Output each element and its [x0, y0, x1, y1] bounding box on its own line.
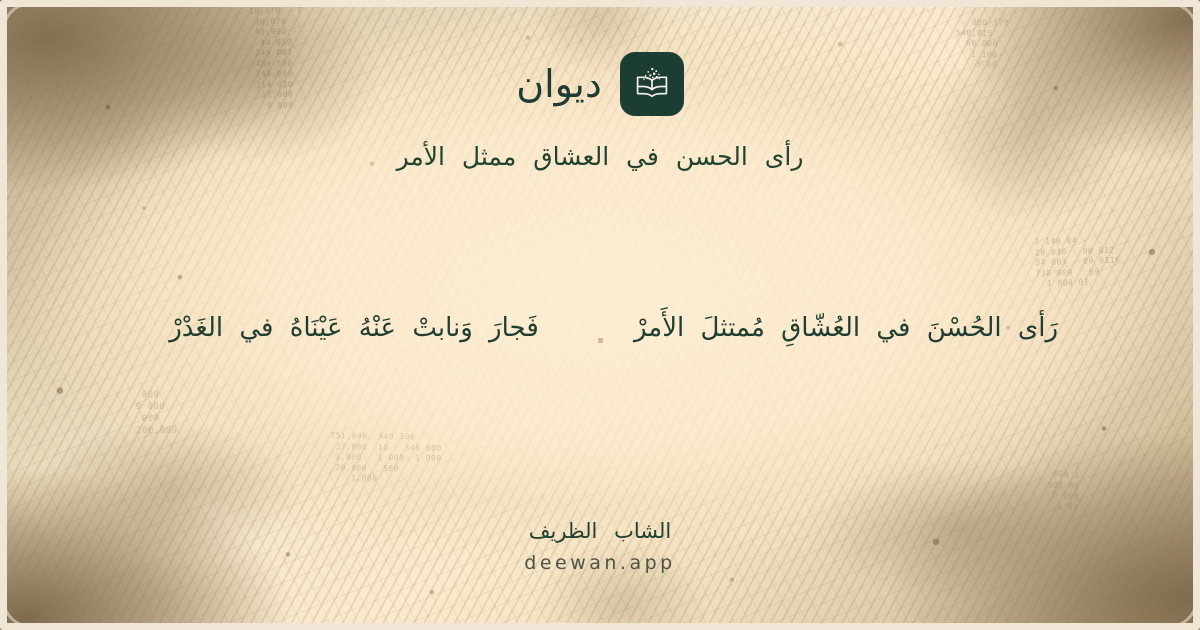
page-title: رأى الحسن في العشاق ممثل الأمر — [397, 142, 804, 171]
verse-line: رَأى الحُسْنَ في العُشّاقِ مُمتثلَ الأَم… — [0, 311, 1200, 346]
brand-name: ديوان — [516, 65, 602, 103]
brand-lockup: ديوان — [516, 52, 684, 116]
open-book-sparkles-icon — [620, 52, 684, 116]
card-footer: الشاب الظريف deewan.app — [0, 519, 1200, 574]
poet-name: الشاب الظريف — [529, 519, 671, 543]
card-content: ديوان رأى الحسن في العشاق ممثل الأمر رَأ… — [0, 0, 1200, 630]
hemistich-right: رَأى الحُسْنَ في العُشّاقِ مُمتثلَ الأَم… — [611, 311, 1081, 346]
hemistich-separator-dot — [589, 318, 611, 340]
hemistich-left: فَجارَ وَنابتْ عَنْهُ عَيْنَاهُ في الغَد… — [119, 311, 589, 346]
site-url: deewan.app — [524, 552, 675, 574]
poem-card: 10,070 - 1 40,070 - 49,900 - 44 050 145 … — [0, 0, 1200, 630]
